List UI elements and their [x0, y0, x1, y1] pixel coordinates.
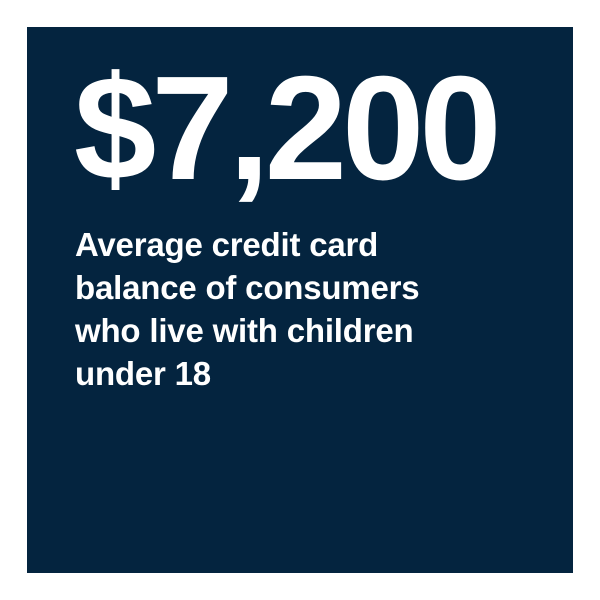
statistic-card-canvas: $7,200 Average credit card balance of co…	[0, 0, 600, 600]
statistic-caption-line: under 18	[75, 352, 515, 395]
statistic-caption-line: Average credit card	[75, 223, 515, 266]
statistic-card: $7,200 Average credit card balance of co…	[27, 27, 573, 573]
statistic-caption-line: who live with children	[75, 309, 515, 352]
statistic-figure: $7,200	[74, 55, 497, 203]
statistic-caption: Average credit card balance of consumers…	[75, 223, 515, 395]
statistic-caption-line: balance of consumers	[75, 266, 515, 309]
